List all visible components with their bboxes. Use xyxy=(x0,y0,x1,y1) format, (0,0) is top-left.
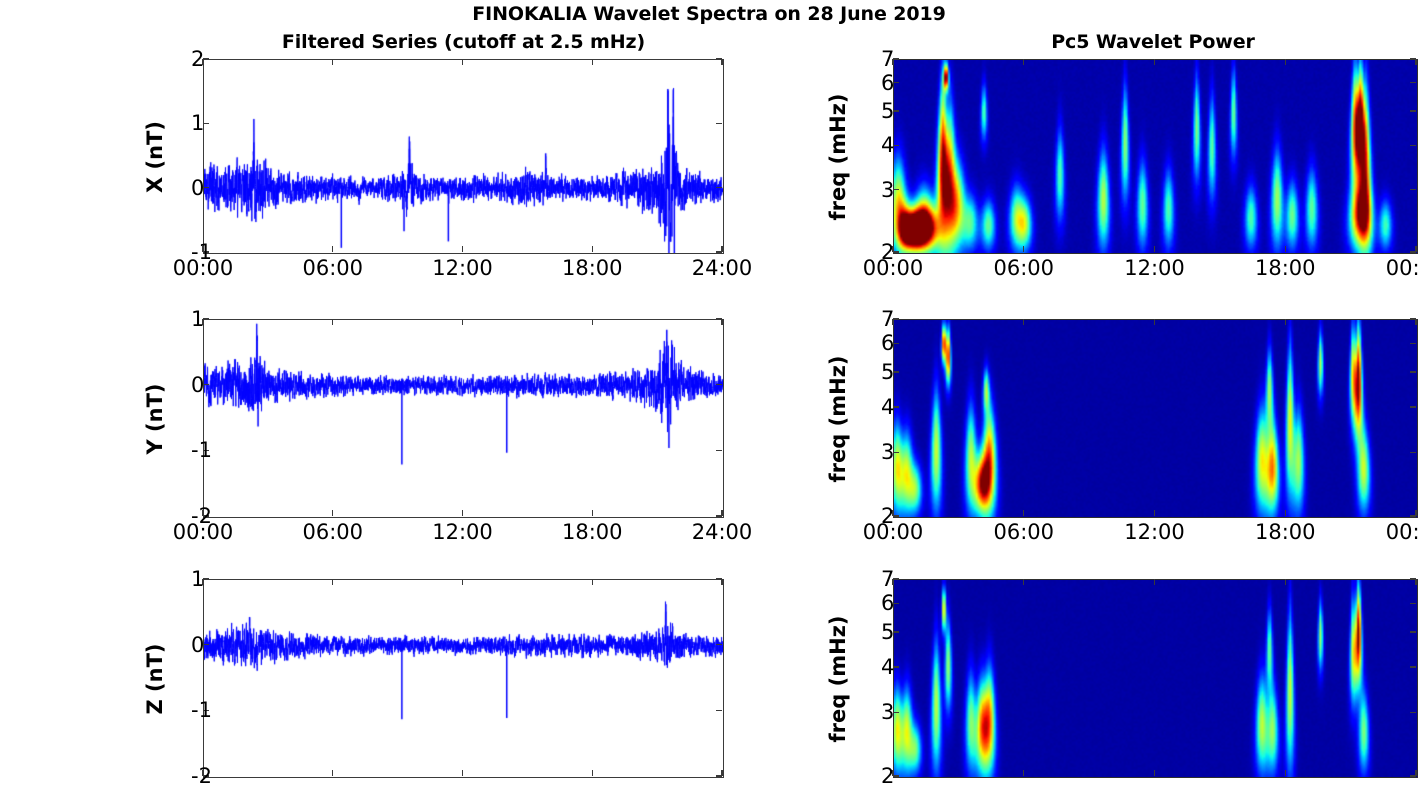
timeseries-y-xticklabel: 18:00 xyxy=(562,520,623,544)
spectrogram-x-xtick xyxy=(1415,59,1416,65)
spectrogram-y-ytick xyxy=(1410,371,1416,372)
timeseries-x-ylabel: X (nT) xyxy=(143,121,167,193)
spectrogram-x-xtick xyxy=(1023,59,1024,65)
spectrogram-y-xtick xyxy=(1154,319,1155,325)
spectrogram-z-ytick xyxy=(1410,666,1416,667)
timeseries-z-xtick xyxy=(462,579,463,585)
spectrogram-x-ytick xyxy=(1410,145,1416,146)
spectrogram-x-xticklabel: 12:00 xyxy=(1124,256,1185,280)
spectrogram-z-xtick xyxy=(1023,579,1024,585)
spectrogram-z-ytick xyxy=(1410,775,1416,776)
timeseries-x-xtick xyxy=(332,59,333,65)
timeseries-y-ylabel: Y (nT) xyxy=(143,384,167,455)
timeseries-x-ytick xyxy=(716,58,722,59)
timeseries-x-xtick xyxy=(592,59,593,65)
timeseries-y-xtick xyxy=(332,319,333,325)
spectrogram-x-ytick xyxy=(1410,82,1416,83)
timeseries-x-trace xyxy=(204,60,723,253)
spectrogram-z-xtick xyxy=(1285,770,1286,776)
spectrogram-z-ytick xyxy=(1410,603,1416,604)
timeseries-y-ytick xyxy=(716,384,722,385)
timeseries-z-ytick xyxy=(716,775,722,776)
spectrogram-y-ytick xyxy=(1410,406,1416,407)
spectrogram-z-xtick xyxy=(1415,579,1416,585)
spectrogram-y-xtick xyxy=(1415,319,1416,325)
spectrogram-z-xtick xyxy=(1023,770,1024,776)
spectrogram-x-xtick xyxy=(1154,59,1155,65)
timeseries-x-xticklabel: 24:00 xyxy=(692,256,753,280)
timeseries-z-ylabel: Z (nT) xyxy=(143,643,167,714)
timeseries-y-xticklabel: 24:00 xyxy=(692,520,753,544)
spectrogram-y-ytick xyxy=(1410,343,1416,344)
spectrogram-y-axes xyxy=(893,319,1418,518)
timeseries-y-ytick xyxy=(716,450,722,451)
timeseries-y-axes xyxy=(203,319,724,518)
timeseries-z-xtick xyxy=(592,579,593,585)
timeseries-x-xtick xyxy=(592,246,593,252)
timeseries-x-ytick xyxy=(716,123,722,124)
spectrogram-y-xticklabel: 06:00 xyxy=(993,520,1054,544)
spectrogram-y-xticklabel: 12:00 xyxy=(1124,520,1185,544)
spectrogram-x-xtick xyxy=(1023,246,1024,252)
timeseries-y-xtick xyxy=(462,319,463,325)
spectrogram-y-heatmap xyxy=(894,320,1417,517)
timeseries-z-xtick xyxy=(462,770,463,776)
spectrogram-x-xticklabel: 00:00 xyxy=(1386,256,1418,280)
spectrogram-z-ytick xyxy=(1410,578,1416,579)
spectrogram-y-xtick xyxy=(1154,510,1155,516)
spectrogram-y-ytick xyxy=(1410,318,1416,319)
timeseries-y-xtick xyxy=(462,510,463,516)
spectrogram-x-ytick xyxy=(1410,251,1416,252)
timeseries-y-xticklabel: 06:00 xyxy=(302,520,363,544)
spectrogram-z-axes xyxy=(893,579,1418,778)
timeseries-x-xticklabel: 12:00 xyxy=(432,256,493,280)
timeseries-z-xtick xyxy=(721,579,722,585)
timeseries-x-ytick xyxy=(716,251,722,252)
spectrogram-y-ylabel: freq (mHz) xyxy=(826,356,850,483)
figure-suptitle: FINOKALIA Wavelet Spectra on 28 June 201… xyxy=(0,3,1418,25)
spectrogram-z-xtick xyxy=(1154,579,1155,585)
spectrogram-y-xtick xyxy=(1285,510,1286,516)
spectrogram-x-axes xyxy=(893,59,1418,254)
right-column-title: Pc5 Wavelet Power xyxy=(893,31,1413,53)
spectrogram-y-xtick xyxy=(1023,510,1024,516)
timeseries-x-xtick xyxy=(332,246,333,252)
spectrogram-y-ytick xyxy=(1410,452,1416,453)
spectrogram-z-xtick xyxy=(1285,579,1286,585)
timeseries-x-xtick xyxy=(462,246,463,252)
spectrogram-z-ytick xyxy=(1410,712,1416,713)
timeseries-z-ytick xyxy=(716,644,722,645)
timeseries-z-ytick xyxy=(716,710,722,711)
timeseries-x-xticklabel: 18:00 xyxy=(562,256,623,280)
spectrogram-x-ytick xyxy=(1410,58,1416,59)
wavelet-spectra-figure: FINOKALIA Wavelet Spectra on 28 June 201… xyxy=(0,0,1418,788)
timeseries-z-xtick xyxy=(592,770,593,776)
spectrogram-y-xtick xyxy=(1023,319,1024,325)
spectrogram-y-ytick xyxy=(1410,515,1416,516)
timeseries-x-xtick xyxy=(721,59,722,65)
timeseries-z-axes xyxy=(203,579,724,778)
spectrogram-y-xticklabel: 00:00 xyxy=(1386,520,1418,544)
timeseries-z-xtick xyxy=(332,579,333,585)
spectrogram-x-ytick xyxy=(1410,189,1416,190)
timeseries-z-xtick xyxy=(332,770,333,776)
timeseries-y-xticklabel: 12:00 xyxy=(432,520,493,544)
spectrogram-x-heatmap xyxy=(894,60,1417,253)
timeseries-y-xtick xyxy=(592,510,593,516)
timeseries-z-trace xyxy=(204,580,723,777)
timeseries-y-xtick xyxy=(721,319,722,325)
timeseries-y-xtick xyxy=(592,319,593,325)
timeseries-x-ytick xyxy=(716,187,722,188)
timeseries-y-trace xyxy=(204,320,723,517)
timeseries-y-ytick xyxy=(716,318,722,319)
spectrogram-y-xtick xyxy=(1285,319,1286,325)
timeseries-x-xtick xyxy=(462,59,463,65)
spectrogram-z-xtick xyxy=(1154,770,1155,776)
spectrogram-x-xtick xyxy=(1285,59,1286,65)
spectrogram-x-xticklabel: 06:00 xyxy=(993,256,1054,280)
timeseries-z-ytick xyxy=(716,578,722,579)
spectrogram-x-xticklabel: 18:00 xyxy=(1255,256,1316,280)
spectrogram-x-ytick xyxy=(1410,110,1416,111)
timeseries-x-axes xyxy=(203,59,724,254)
spectrogram-x-xtick xyxy=(1154,246,1155,252)
timeseries-x-xticklabel: 06:00 xyxy=(302,256,363,280)
spectrogram-z-ylabel: freq (mHz) xyxy=(826,616,850,743)
spectrogram-x-xtick xyxy=(1285,246,1286,252)
left-column-title: Filtered Series (cutoff at 2.5 mHz) xyxy=(203,31,724,53)
spectrogram-y-xticklabel: 18:00 xyxy=(1255,520,1316,544)
timeseries-y-ytick xyxy=(716,515,722,516)
spectrogram-z-ytick xyxy=(1410,631,1416,632)
spectrogram-z-heatmap xyxy=(894,580,1417,777)
spectrogram-x-ylabel: freq (mHz) xyxy=(826,94,850,221)
timeseries-y-xtick xyxy=(332,510,333,516)
